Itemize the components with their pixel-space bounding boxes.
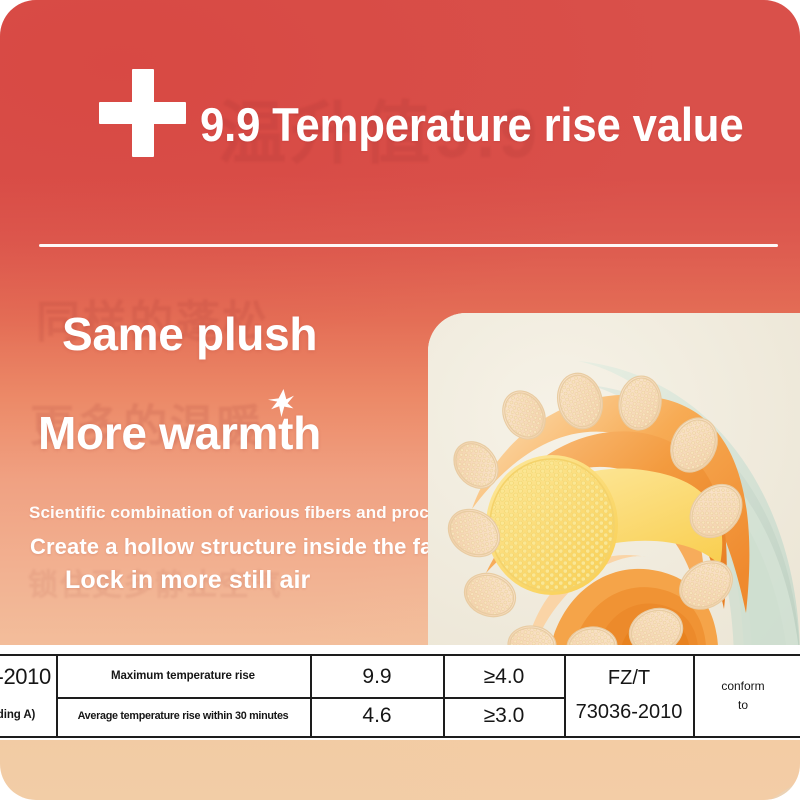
spec-table: 6036-2010 Recording A) Maximum temperatu… — [0, 645, 800, 740]
metric-label-row-1: Maximum temperature rise — [58, 658, 308, 696]
fiber-cross-section-illustration — [428, 313, 800, 660]
promo-poster: 温升值9.9 同样的蓬松 更多的温暖 锁住更多静止空气 9.9 Temperat… — [0, 0, 800, 800]
standard-note: Recording A) — [0, 698, 54, 734]
lead-line-1: Same plush — [62, 307, 317, 361]
page-title: 9.9 Temperature rise value — [200, 97, 743, 152]
spec-table-grid: 6036-2010 Recording A) Maximum temperatu… — [0, 650, 800, 735]
sparkle-icon — [268, 389, 294, 417]
fiber-illustration-card — [428, 313, 800, 660]
sub-line-1: Scientific combination of various fibers… — [29, 503, 477, 523]
result-line-2: to — [695, 697, 791, 715]
standard-id: 6036-2010 — [0, 658, 54, 696]
sub-line-3: Lock in more still air — [65, 566, 310, 595]
result-line-1: conform — [695, 678, 791, 696]
measured-value-row-1: 9.9 — [312, 658, 442, 696]
sub-line-2: Create a hollow structure inside the fab… — [30, 534, 473, 560]
measured-value-row-2: 4.6 — [312, 698, 442, 734]
requirement-value-row-1: ≥4.0 — [445, 658, 563, 696]
header-divider — [39, 244, 778, 247]
reference-standard-line-2: 73036-2010 — [566, 696, 692, 728]
metric-label-row-2: Average temperature rise within 30 minut… — [58, 698, 308, 734]
requirement-value-row-2: ≥3.0 — [445, 698, 563, 734]
plus-icon — [99, 69, 186, 157]
reference-standard-line-1: FZ/T — [566, 662, 692, 694]
fiber-strand-decoration — [560, 742, 800, 800]
